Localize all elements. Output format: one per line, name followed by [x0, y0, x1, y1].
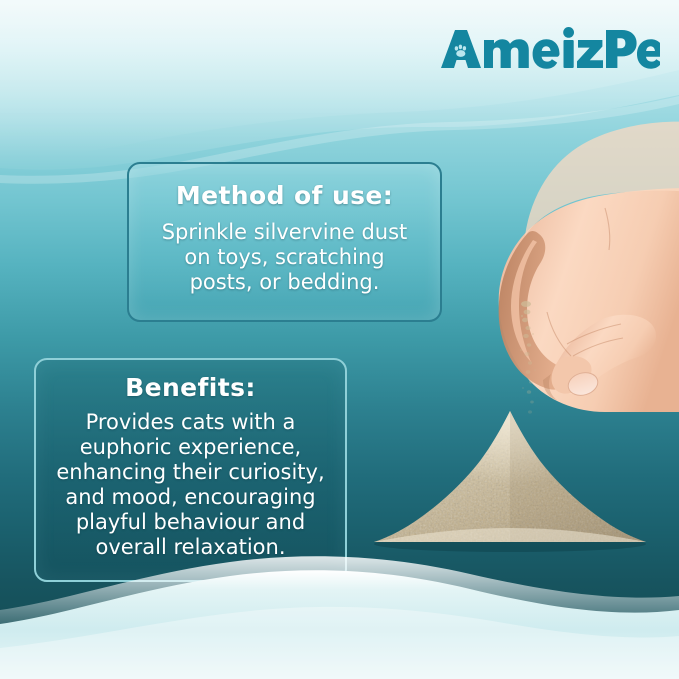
card-method-line-2: on toys, scratching	[141, 245, 428, 270]
card-benefits-line-1: Provides cats with a	[44, 410, 337, 435]
product-infographic: R	[0, 0, 679, 679]
card-benefits-line-5: playful behaviour and	[44, 510, 337, 535]
card-benefits-line-3: enhancing their curiosity,	[44, 460, 337, 485]
card-benefits-title: Benefits:	[36, 373, 345, 402]
card-benefits-line-4: and mood, encouraging	[44, 485, 337, 510]
card-method-title: Method of use:	[129, 181, 440, 210]
card-method-line-3: posts, or bedding.	[141, 270, 428, 295]
hand-sprinkling-icon	[455, 112, 679, 412]
card-benefits-body: Provides cats with a euphoric experience…	[36, 410, 345, 560]
card-benefits: Benefits: Provides cats with a euphoric …	[34, 358, 347, 582]
falling-dust-icon	[500, 300, 570, 430]
powder-pile-icon	[360, 405, 660, 555]
card-benefits-line-2: euphoric experience,	[44, 435, 337, 460]
card-method-body: Sprinkle silvervine dust on toys, scratc…	[129, 220, 440, 295]
card-method-line-1: Sprinkle silvervine dust	[141, 220, 428, 245]
brand-logo: R	[440, 26, 660, 72]
card-benefits-line-6: overall relaxation.	[44, 535, 337, 560]
card-method-of-use: Method of use: Sprinkle silvervine dust …	[127, 162, 442, 322]
